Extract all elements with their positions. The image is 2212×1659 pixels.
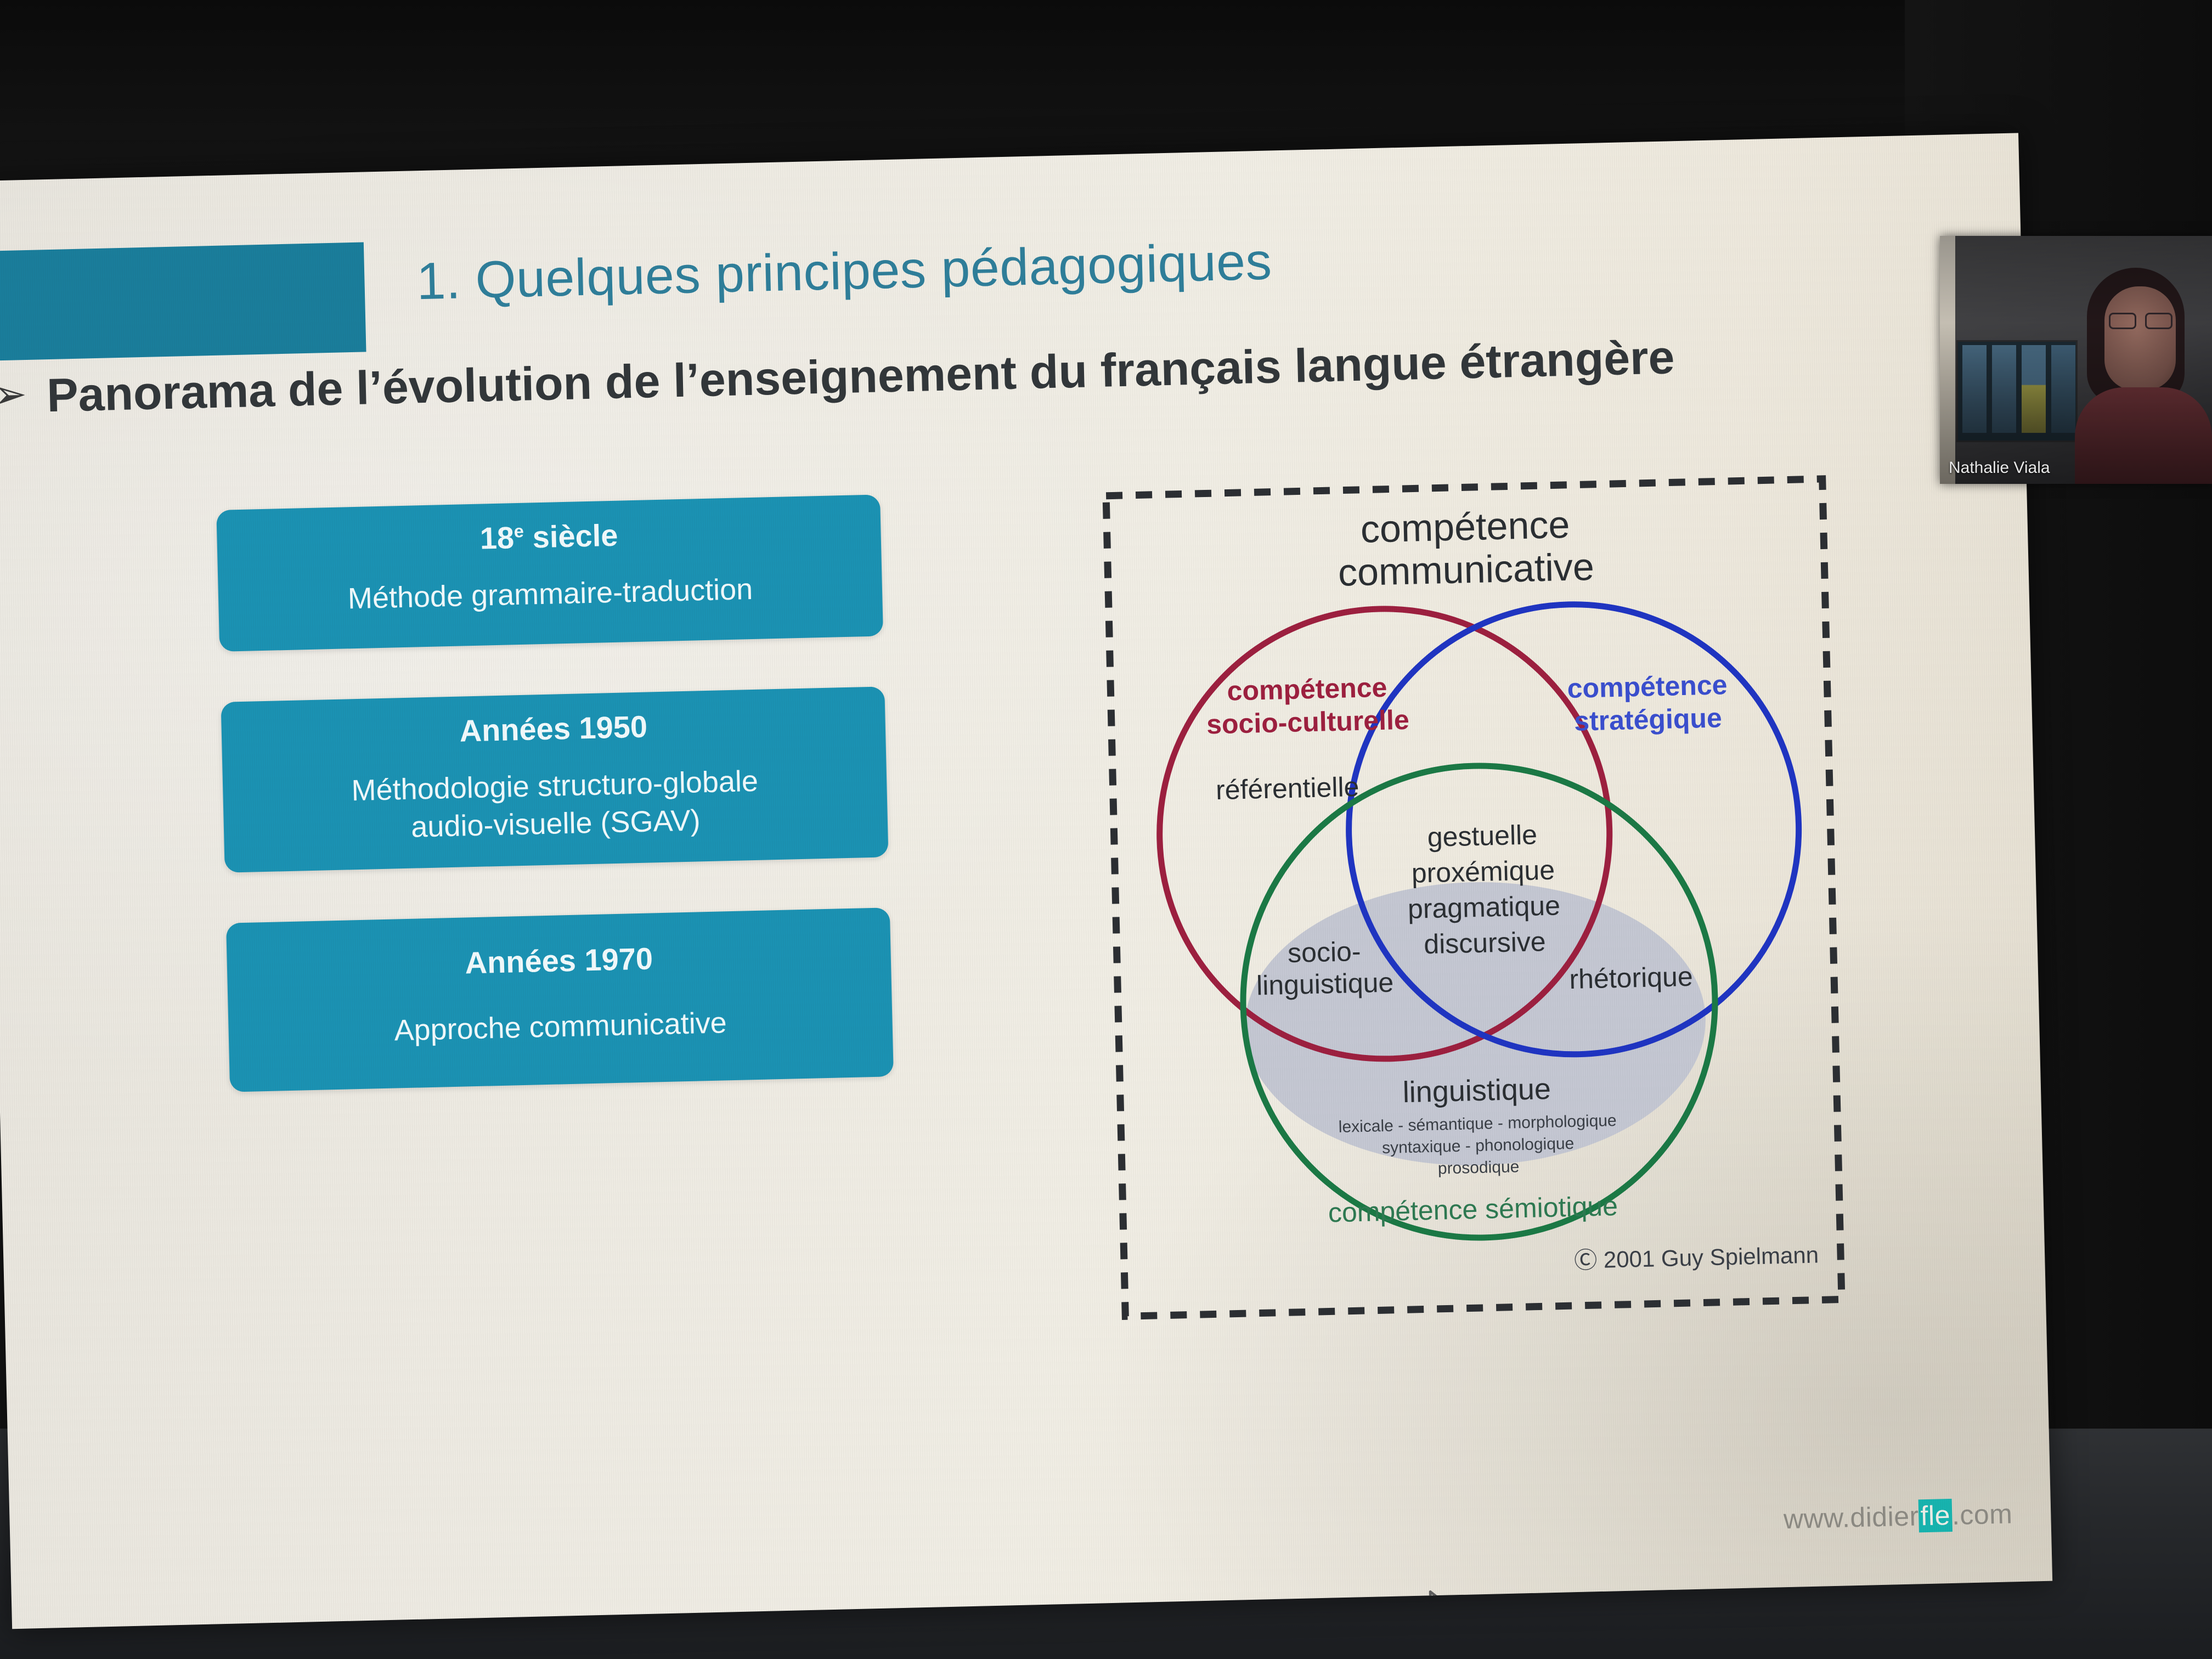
timeline-card-annees-1950: Années 1950 Méthodologie structuro-globa… [221,686,888,872]
watermark-highlight: fle [1918,1499,1953,1532]
venn-label-socio-line-1: socio- [1287,936,1361,968]
window-pane [1962,345,1987,433]
slide-section-title: 1. Quelques principes pédagogiques [416,232,1272,312]
participant-face [2104,286,2176,391]
didierfle-watermark: www.didierfle.com [1783,1498,2013,1535]
venn-heading-line-1: compétence [1360,503,1570,551]
timeline-card-18e-siecle: 18e siècle Méthode grammaire-traduction [216,494,883,651]
venn-label-referentielle: référentielle [1215,771,1359,805]
venn-label-socio-culturelle-line-1: compétence [1227,672,1387,707]
card-body: Méthode grammaire-traduction [240,568,860,620]
card-body: Approche communicative [250,1001,871,1053]
video-background-window [1956,340,2078,442]
venn-label-socio-culturelle-line-2: socio-culturelle [1206,704,1410,740]
photo-of-screen: 1. Quelques principes pédagogiques ➢ Pan… [0,0,2212,1659]
presentation-slide: 1. Quelques principes pédagogiques ➢ Pan… [0,133,2052,1629]
watermark-prefix: www.didier [1783,1500,1919,1534]
card-title-rest: siècle [523,518,618,555]
card-title-superscript: e [513,521,524,541]
card-title: Années 1950 [243,706,864,752]
video-participant-tile[interactable]: Nathalie Viala [1940,236,2212,484]
venn-label-semiotique: compétence sémiotique [1328,1190,1618,1228]
timeline-card-list: 18e siècle Méthode grammaire-traduction … [216,494,895,1142]
venn-label-proxemique: proxémique [1411,855,1555,889]
card-body: Méthodologie structuro-globale audio-vis… [245,760,866,850]
window-pane [2022,345,2046,433]
venn-label-pragmatique: pragmatique [1407,890,1560,924]
card-title: 18e siècle [239,513,859,560]
venn-heading-line-2: communicative [1338,545,1595,594]
arrow-bullet-icon: ➢ [0,374,27,415]
venn-label-linguistique: linguistique [1402,1073,1551,1109]
video-background-doorframe [1940,236,1955,484]
venn-label-gestuelle: gestuelle [1427,819,1537,853]
venn-label-linguistique-sub-3: prosodique [1438,1158,1520,1177]
participant-name-label: Nathalie Viala [1949,459,2050,477]
venn-label-rhetorique: rhétorique [1569,961,1693,995]
participant-torso [2075,387,2212,484]
window-pane [2051,345,2075,433]
venn-copyright: Ⓒ 2001 Guy Spielmann [1574,1242,1819,1273]
watermark-suffix: .com [1951,1498,2013,1531]
venn-diagram-figure: compétence communicative compétence soci… [1094,466,1854,1328]
venn-label-strategique-line-2: stratégique [1574,702,1723,736]
venn-label-strategique-line-1: compétence [1567,669,1728,704]
timeline-card-annees-1970: Années 1970 Approche communicative [226,907,894,1092]
header-accent-block [0,242,366,360]
glasses-icon [2109,313,2172,327]
card-title-century: 18 [479,520,515,555]
window-pane [1992,345,2016,433]
card-title: Années 1970 [249,938,869,984]
venn-label-socio-line-2: linguistique [1256,967,1393,1001]
venn-label-discursive: discursive [1424,926,1547,960]
